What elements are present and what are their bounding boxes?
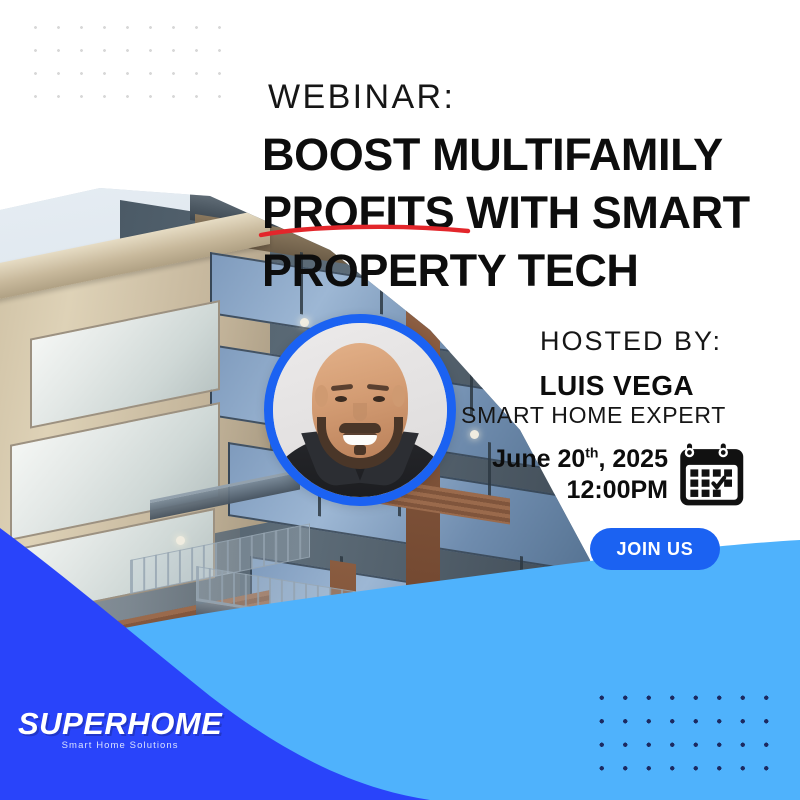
event-date-ordinal: th [585, 444, 598, 460]
dot-grid-topleft-decoration [24, 16, 234, 108]
logo-wordmark: SUPERHOME [18, 708, 222, 739]
speaker-name: LUIS VEGA [0, 370, 800, 402]
event-date-text: June 20 [492, 445, 585, 473]
headline-line-3: PROPERTY TECH [262, 242, 782, 300]
speaker-role: SMART HOME EXPERT [0, 402, 800, 429]
event-time: 12:00PM [440, 475, 668, 506]
event-datetime-block: June 20th, 2025 12:00PM [440, 440, 750, 510]
calendar-check-icon [678, 440, 750, 510]
event-date: June 20th, 2025 [440, 444, 668, 475]
headline-line-1: BOOST MULTIFAMILY [262, 126, 782, 184]
eyebrow-label: WEBINAR: [268, 78, 455, 117]
superhome-logo: SUPERHOME Smart Home Solutions [18, 708, 222, 751]
page-title: BOOST MULTIFAMILY PROFITS WITH SMART PRO… [262, 126, 782, 300]
hosted-by-label: HOSTED BY: [0, 326, 800, 357]
red-underline-accent [258, 222, 473, 240]
dot-grid-bottomright-decoration [590, 686, 776, 778]
logo-tagline: Smart Home Solutions [18, 741, 222, 751]
join-us-button[interactable]: JOIN US [590, 528, 720, 570]
webinar-poster: SUPERHOME Smart Home Solutions WEBINAR: … [0, 0, 800, 800]
event-date-year: , 2025 [598, 445, 668, 473]
